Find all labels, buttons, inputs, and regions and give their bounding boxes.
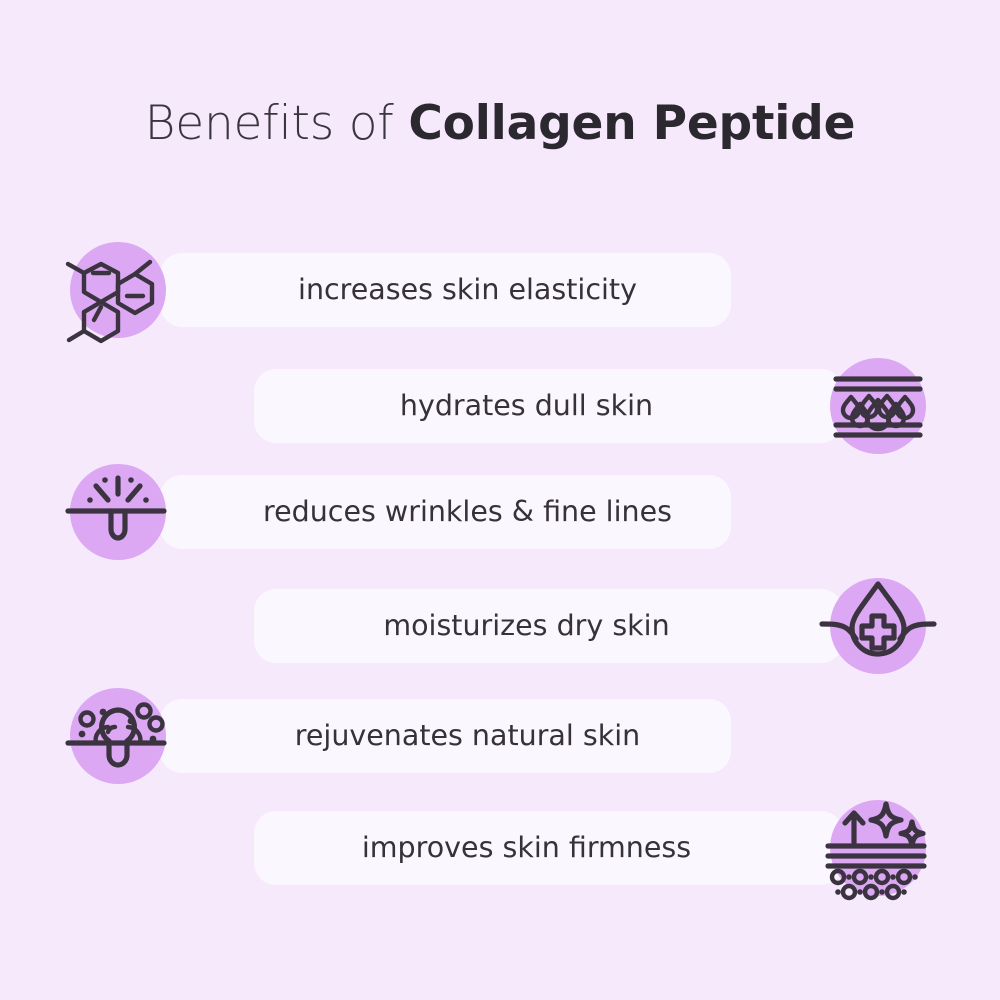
droplet-plus-icon — [830, 578, 926, 674]
benefit-label-6: improves skin firmness — [254, 831, 843, 865]
infographic-canvas: Benefits of Collagen Peptide increases s… — [0, 0, 1000, 1000]
benefit-row-6: improves skin firmness — [0, 800, 1000, 896]
page-title: Benefits of Collagen Peptide — [0, 92, 1000, 156]
benefit-label-4: moisturizes dry skin — [254, 609, 843, 643]
benefit-pill-2[interactable]: hydrates dull skin — [254, 369, 843, 443]
benefit-label-3: reduces wrinkles & fine lines — [160, 495, 731, 529]
water-droplets-layers-icon — [830, 358, 926, 454]
page-title-bold: Collagen Peptide — [408, 96, 855, 151]
benefit-label-2: hydrates dull skin — [254, 389, 843, 423]
benefit-row-5: rejuvenates natural skin — [0, 688, 1000, 784]
benefit-pill-5[interactable]: rejuvenates natural skin — [160, 699, 731, 773]
benefit-label-5: rejuvenates natural skin — [160, 719, 731, 753]
benefit-row-2: hydrates dull skin — [0, 358, 1000, 454]
benefit-pill-3[interactable]: reduces wrinkles & fine lines — [160, 475, 731, 549]
benefit-pill-4[interactable]: moisturizes dry skin — [254, 589, 843, 663]
pore-cells-renewal-icon — [70, 688, 166, 784]
benefit-row-4: moisturizes dry skin — [0, 578, 1000, 674]
benefit-row-3: reduces wrinkles & fine lines — [0, 464, 1000, 560]
benefit-pill-6[interactable]: improves skin firmness — [254, 811, 843, 885]
molecule-hexagon-icon — [70, 242, 166, 338]
benefit-label-1: increases skin elasticity — [160, 273, 731, 307]
skin-pore-follicle-icon — [70, 464, 166, 560]
benefit-pill-1[interactable]: increases skin elasticity — [160, 253, 731, 327]
page-title-light: Benefits of — [145, 96, 409, 151]
benefit-row-1: increases skin elasticity — [0, 242, 1000, 338]
skin-layers-sparkle-arrow-icon — [830, 800, 926, 896]
